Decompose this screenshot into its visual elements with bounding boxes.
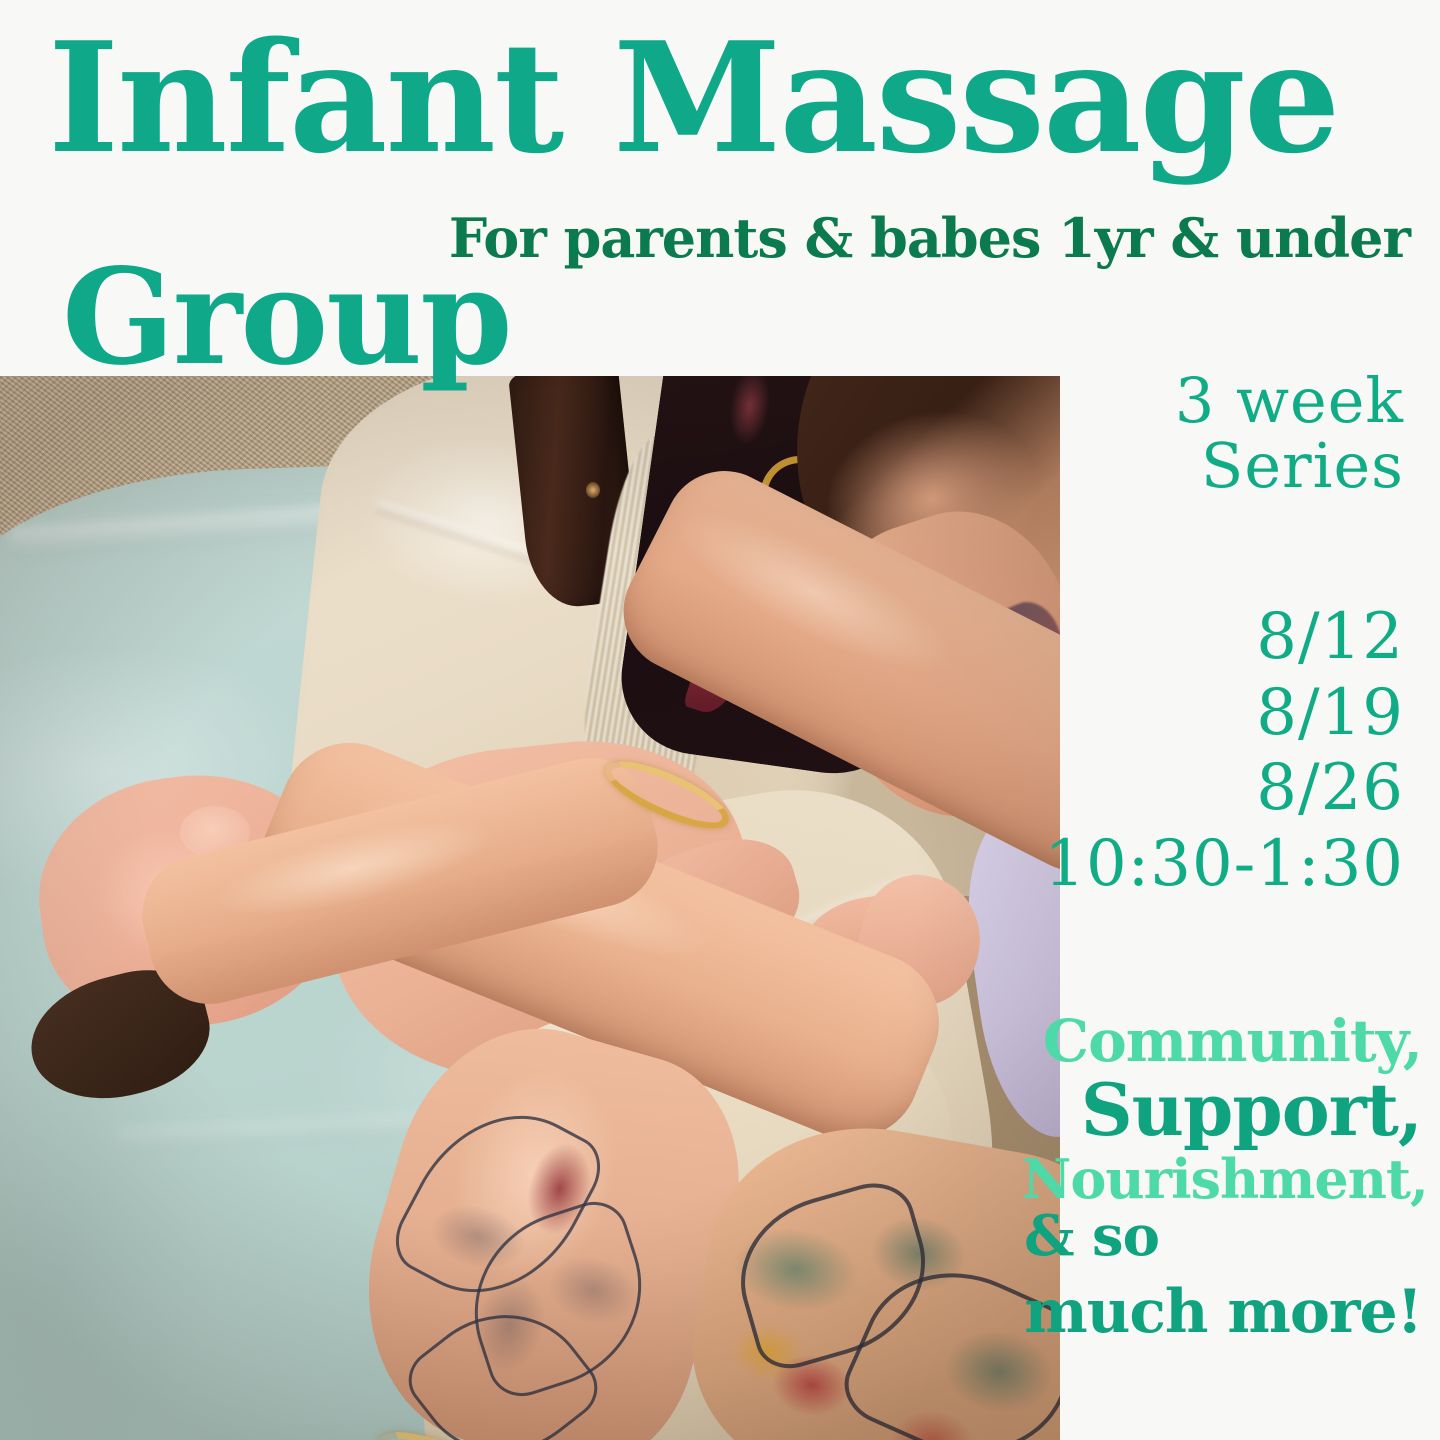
page-subtitle: For parents & babes 1yr & under xyxy=(449,206,1410,270)
series-line1: 3 week xyxy=(1175,368,1404,433)
benefits-list: Community, Support, Nourishment, & so mu… xyxy=(1022,1012,1422,1342)
session-date-1: 8/12 xyxy=(1044,600,1404,676)
infant-massage-photo xyxy=(0,376,1060,1440)
session-date-3: 8/26 xyxy=(1044,751,1404,827)
session-dates-block: 8/12 8/19 8/26 10:30-1:30 xyxy=(1044,600,1404,902)
benefit-item-support: Support, xyxy=(1022,1074,1422,1146)
session-date-2: 8/19 xyxy=(1044,676,1404,752)
benefit-item-nourishment: Nourishment, xyxy=(1022,1152,1422,1206)
series-line2: Series xyxy=(1175,433,1404,498)
photo-bottle-glint xyxy=(586,482,600,498)
benefit-item-and-so: & so xyxy=(1022,1208,1422,1264)
page-title-line1: Infant Massage xyxy=(48,22,1339,174)
poster-canvas: Infant Massage Group For parents & babes… xyxy=(0,0,1440,1440)
benefit-item-much-more: much more! xyxy=(1022,1282,1422,1342)
page-title-line2: Group xyxy=(62,252,511,384)
session-time-range: 10:30-1:30 xyxy=(1044,827,1404,903)
benefit-item-community: Community, xyxy=(1022,1012,1422,1070)
series-duration-block: 3 week Series xyxy=(1175,368,1404,498)
